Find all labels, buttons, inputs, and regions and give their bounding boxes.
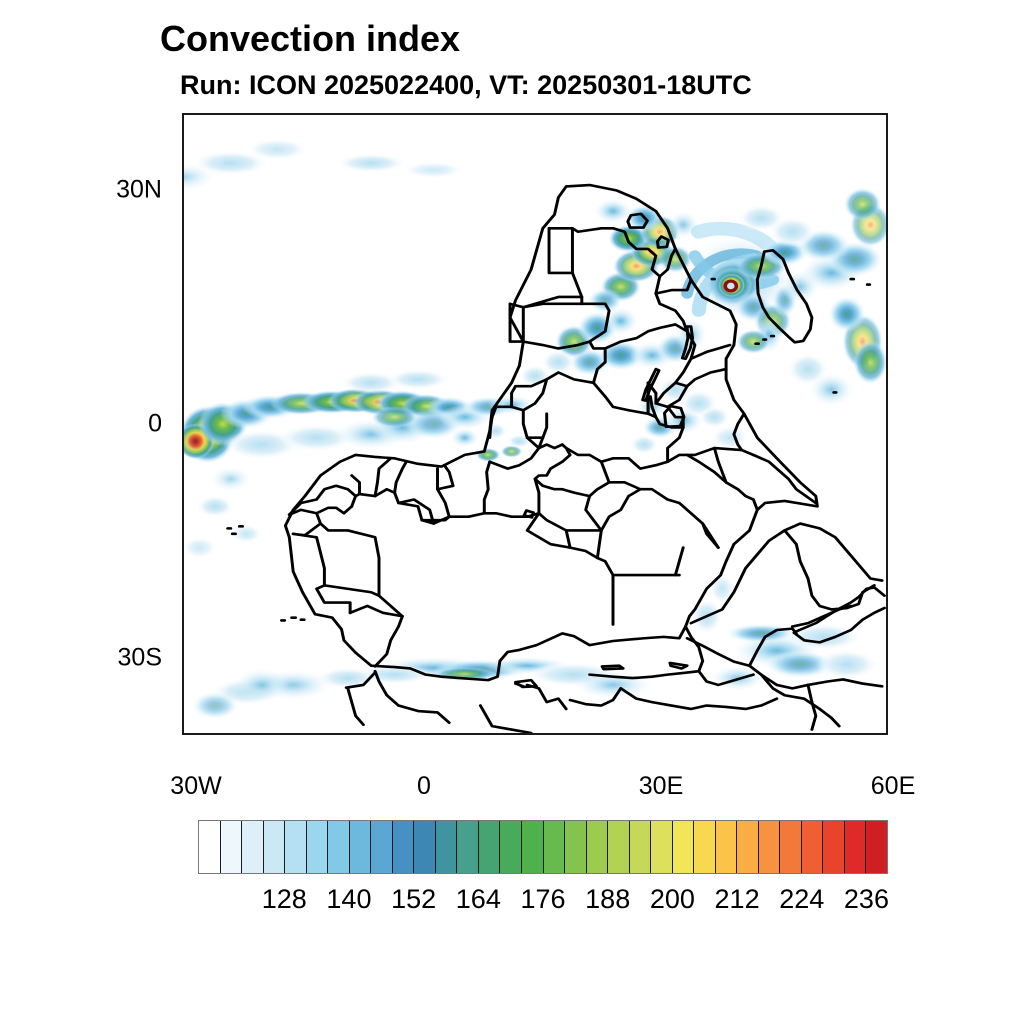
colorbar-cell-18 [587, 821, 609, 873]
x-tick-40E [733, 734, 735, 735]
colorbar-cell-11 [436, 821, 458, 873]
x-axis-label-30W: 30W [170, 772, 221, 801]
colorbar-cell-27 [780, 821, 802, 873]
x-tick-20W [262, 734, 264, 735]
colorbar-cell-15 [522, 821, 544, 873]
colorbar-tick-label-140: 140 [326, 884, 371, 915]
x-axis-label-60E: 60E [871, 772, 915, 801]
convection-index-figure: Convection index Run: ICON 2025022400, V… [0, 0, 1024, 1024]
colorbar-cell-25 [737, 821, 759, 873]
x-tick-20E [576, 734, 578, 735]
x-tick-50E [812, 734, 814, 735]
colorbar-cell-30 [845, 821, 867, 873]
colorbar-cell-29 [823, 821, 845, 873]
colorbar-cell-6 [328, 821, 350, 873]
x-tick-30W [184, 734, 186, 735]
colorbar-cell-16 [544, 821, 566, 873]
colorbar-cell-8 [371, 821, 393, 873]
colorbar-cell-12 [457, 821, 479, 873]
y-tick-30S [182, 660, 183, 662]
colorbar-cell-5 [307, 821, 329, 873]
y-tick-20S [182, 564, 183, 566]
colorbar-cell-24 [716, 821, 738, 873]
colorbar-cell-21 [651, 821, 673, 873]
colorbar-cell-9 [393, 821, 415, 873]
x-axis-label-30E: 30E [639, 772, 683, 801]
x-axis-label-0: 0 [417, 772, 431, 801]
colorbar [198, 820, 888, 874]
colorbar-cell-19 [608, 821, 630, 873]
y-tick-0 [182, 426, 183, 428]
x-tick-30E [655, 734, 657, 735]
colorbar-tick-label-152: 152 [391, 884, 436, 915]
colorbar-tick-label-128: 128 [262, 884, 307, 915]
y-tick-30N [182, 192, 183, 194]
map-canvas [184, 115, 886, 733]
x-tick-0 [419, 734, 421, 735]
colorbar-tick-label-212: 212 [715, 884, 760, 915]
colorbar-cell-3 [264, 821, 286, 873]
colorbar-cell-2 [242, 821, 264, 873]
colorbar-tick-label-200: 200 [650, 884, 695, 915]
colorbar-cell-31 [866, 821, 887, 873]
page-subtitle: Run: ICON 2025022400, VT: 20250301-18UTC [180, 70, 752, 101]
colorbar-labels: 128140152164176188200212224236 [0, 884, 1024, 920]
colorbar-tick-label-224: 224 [779, 884, 824, 915]
y-tick-10S [182, 495, 183, 497]
colorbar-tick-label-236: 236 [844, 884, 889, 915]
colorbar-cell-28 [802, 821, 824, 873]
y-tick-10N [182, 357, 183, 359]
y-axis-label-30N: 30N [92, 176, 162, 205]
colorbar-tick-label-164: 164 [456, 884, 501, 915]
map-plot-area [182, 113, 888, 735]
y-tick-20N [182, 261, 183, 263]
colorbar-cell-23 [694, 821, 716, 873]
colorbar-cell-26 [759, 821, 781, 873]
colorbar-cell-10 [414, 821, 436, 873]
x-tick-10W [341, 734, 343, 735]
colorbar-cell-20 [630, 821, 652, 873]
colorbar-cell-13 [479, 821, 501, 873]
page-title: Convection index [160, 18, 460, 60]
colorbar-cell-14 [500, 821, 522, 873]
colorbar-tick-label-188: 188 [585, 884, 630, 915]
colorbar-cell-7 [350, 821, 372, 873]
colorbar-cell-4 [285, 821, 307, 873]
colorbar-cell-22 [673, 821, 695, 873]
colorbar-tick-label-176: 176 [520, 884, 565, 915]
y-axis-label-30S: 30S [92, 644, 162, 673]
colorbar-cell-0 [199, 821, 221, 873]
x-tick-10E [498, 734, 500, 735]
colorbar-cell-1 [221, 821, 243, 873]
colorbar-cell-17 [565, 821, 587, 873]
y-axis-label-0: 0 [92, 410, 162, 439]
